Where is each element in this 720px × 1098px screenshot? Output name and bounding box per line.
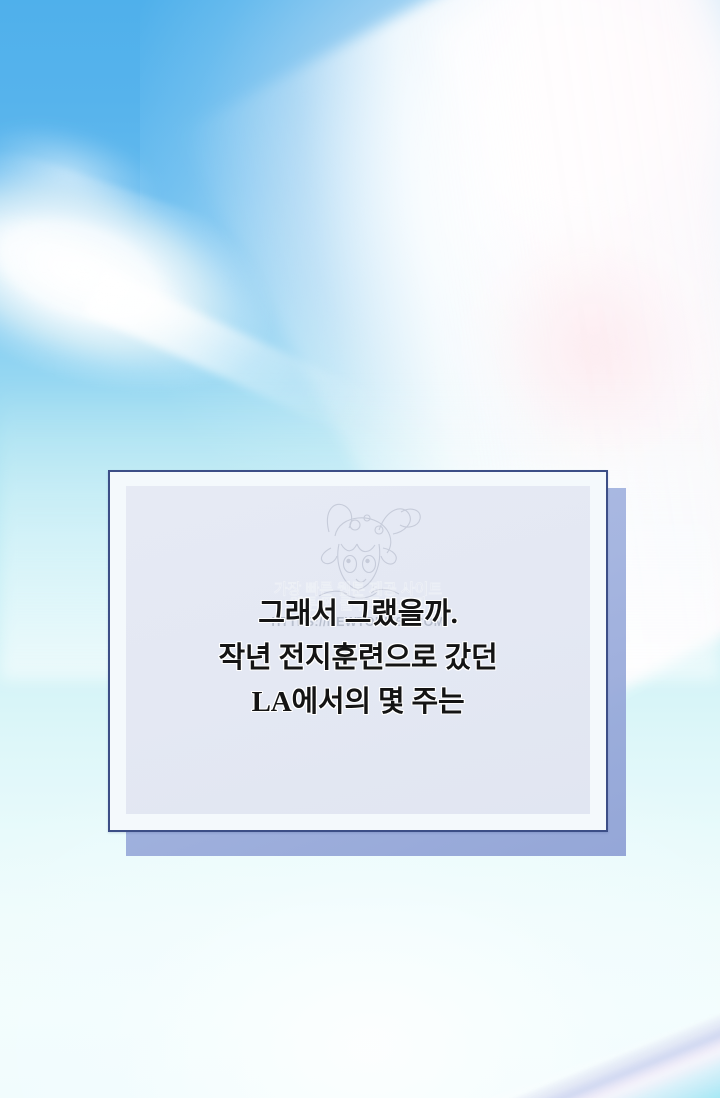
panel-frame: 가장 빠른 웹툰 제공 사이트 웹툰 짱 쿨루토 뉴토끼 HTTPS://NEW… [108,470,608,832]
narration-line-3: LA에서의 몇 주는 [126,680,590,724]
narration-line-1: 그래서 그랬을까. [126,592,590,636]
panel-inner-surface: 가장 빠른 웹툰 제공 사이트 웹툰 짱 쿨루토 뉴토끼 HTTPS://NEW… [126,486,590,814]
narration-panel: 가장 빠른 웹툰 제공 사이트 웹툰 짱 쿨루토 뉴토끼 HTTPS://NEW… [108,470,620,848]
narration-line-2: 작년 전지훈련으로 갔던 [126,636,590,680]
narration-text: 그래서 그랬을까. 작년 전지훈련으로 갔던 LA에서의 몇 주는 [126,592,590,724]
